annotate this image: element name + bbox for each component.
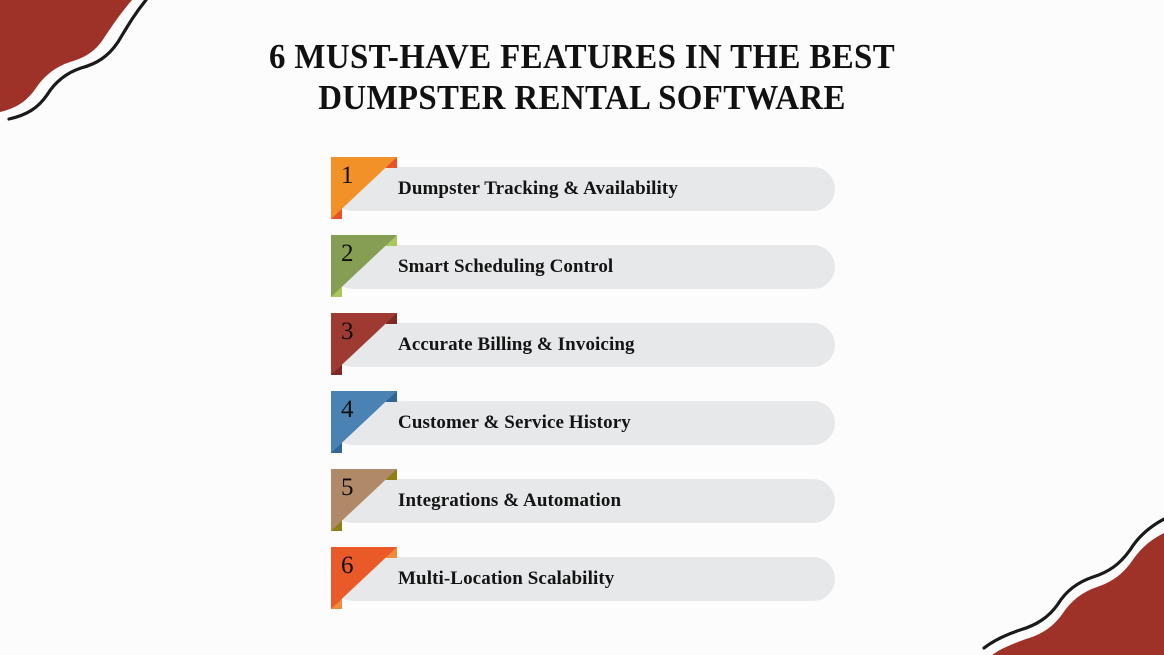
list-item[interactable]: 2 Smart Scheduling Control [331, 235, 851, 313]
feature-number-badge: 1 [331, 157, 397, 219]
slide-canvas: 6 MUST-HAVE FEATURES IN THE BEST DUMPSTE… [0, 0, 1164, 655]
feature-label: Accurate Billing & Invoicing [398, 323, 635, 367]
title-line-1: 6 MUST-HAVE FEATURES IN THE BEST [35, 36, 1129, 77]
list-item[interactable]: 1 Dumpster Tracking & Availability [331, 157, 851, 235]
feature-number-badge: 5 [331, 469, 397, 531]
list-item[interactable]: 4 Customer & Service History [331, 391, 851, 469]
badge-number: 4 [341, 393, 354, 427]
badge-number: 1 [341, 159, 354, 193]
feature-label: Dumpster Tracking & Availability [398, 167, 678, 211]
feature-label: Smart Scheduling Control [398, 245, 613, 289]
title-line-2: DUMPSTER RENTAL SOFTWARE [35, 77, 1129, 118]
feature-number-badge: 4 [331, 391, 397, 453]
feature-label: Multi-Location Scalability [398, 557, 614, 601]
list-item[interactable]: 5 Integrations & Automation [331, 469, 851, 547]
badge-number: 6 [341, 549, 354, 583]
badge-number: 2 [341, 237, 354, 271]
feature-number-badge: 3 [331, 313, 397, 375]
wave-shape-bottom-right-icon [964, 505, 1164, 655]
page-title: 6 MUST-HAVE FEATURES IN THE BEST DUMPSTE… [0, 36, 1164, 118]
feature-label: Customer & Service History [398, 401, 631, 445]
feature-label: Integrations & Automation [398, 479, 621, 523]
badge-number: 5 [341, 471, 354, 505]
feature-list: 1 Dumpster Tracking & Availability 2 Sma… [331, 157, 851, 625]
badge-number: 3 [341, 315, 354, 349]
list-item[interactable]: 3 Accurate Billing & Invoicing [331, 313, 851, 391]
feature-number-badge: 6 [331, 547, 397, 609]
feature-number-badge: 2 [331, 235, 397, 297]
list-item[interactable]: 6 Multi-Location Scalability [331, 547, 851, 625]
